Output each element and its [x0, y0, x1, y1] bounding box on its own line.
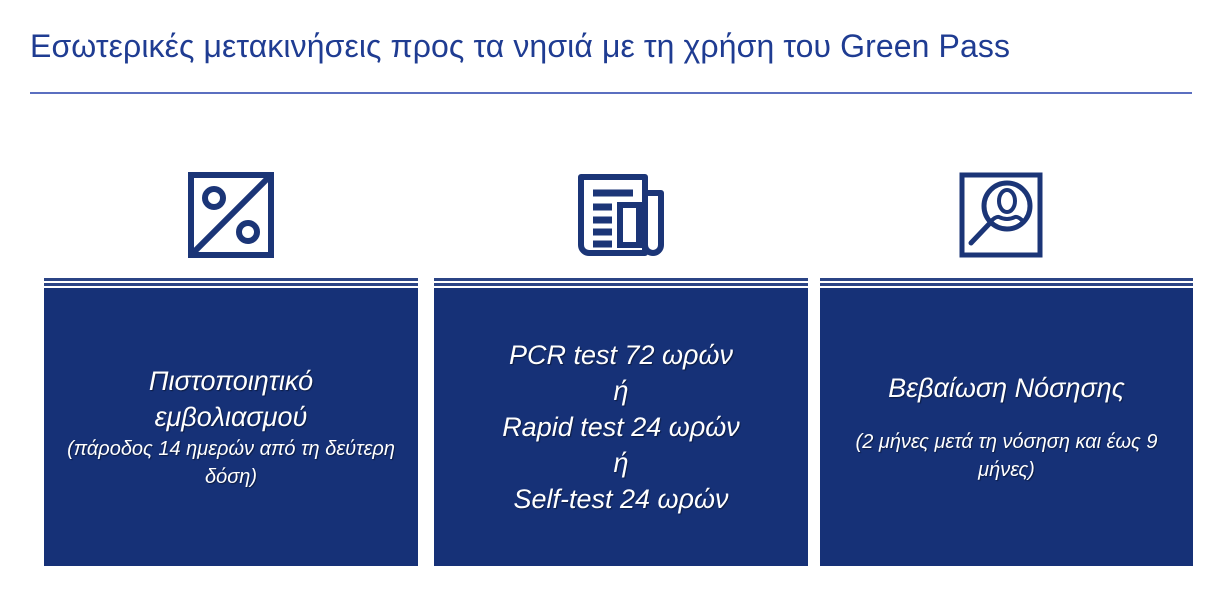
card-sub-text: (πάροδος 14 ημερών από τη δεύτερη δόση) [58, 435, 404, 491]
title-divider [30, 92, 1192, 94]
page-title: Εσωτερικές μετακινήσεις προς τα νησιά με… [30, 22, 1192, 74]
newspaper-icon [571, 167, 671, 263]
column-1-icon-container [176, 160, 286, 270]
card-accent-bar [434, 283, 808, 286]
card-main-text: Πιστοποιητικό εμβολιασμού [149, 363, 313, 435]
column-2-icon-container [566, 160, 676, 270]
icon-row [0, 160, 1222, 270]
card-body: Πιστοποιητικό εμβολιασμού (πάροδος 14 ημ… [44, 288, 418, 566]
percent-square-icon [183, 167, 279, 263]
card-vaccination-certificate: Πιστοποιητικό εμβολιασμού (πάροδος 14 ημ… [44, 278, 418, 566]
card-accent-bar [44, 283, 418, 286]
card-main-text: Βεβαίωση Νόσησης [888, 370, 1125, 406]
card-body: Βεβαίωση Νόσησης (2 μήνες μετά τη νόσηση… [820, 288, 1193, 566]
card-accent-bar [820, 283, 1193, 286]
card-body: PCR test 72 ωρών ή Rapid test 24 ωρών ή … [434, 288, 808, 566]
column-3-icon-container [946, 160, 1056, 270]
card-test-options: PCR test 72 ωρών ή Rapid test 24 ωρών ή … [434, 278, 808, 566]
card-main-text: PCR test 72 ωρών ή Rapid test 24 ωρών ή … [502, 337, 740, 517]
magnifier-person-icon [953, 167, 1049, 263]
card-sub-text: (2 μήνες μετά τη νόσηση και έως 9 μήνες) [834, 428, 1179, 484]
card-recovery-certificate: Βεβαίωση Νόσησης (2 μήνες μετά τη νόσηση… [820, 278, 1193, 566]
